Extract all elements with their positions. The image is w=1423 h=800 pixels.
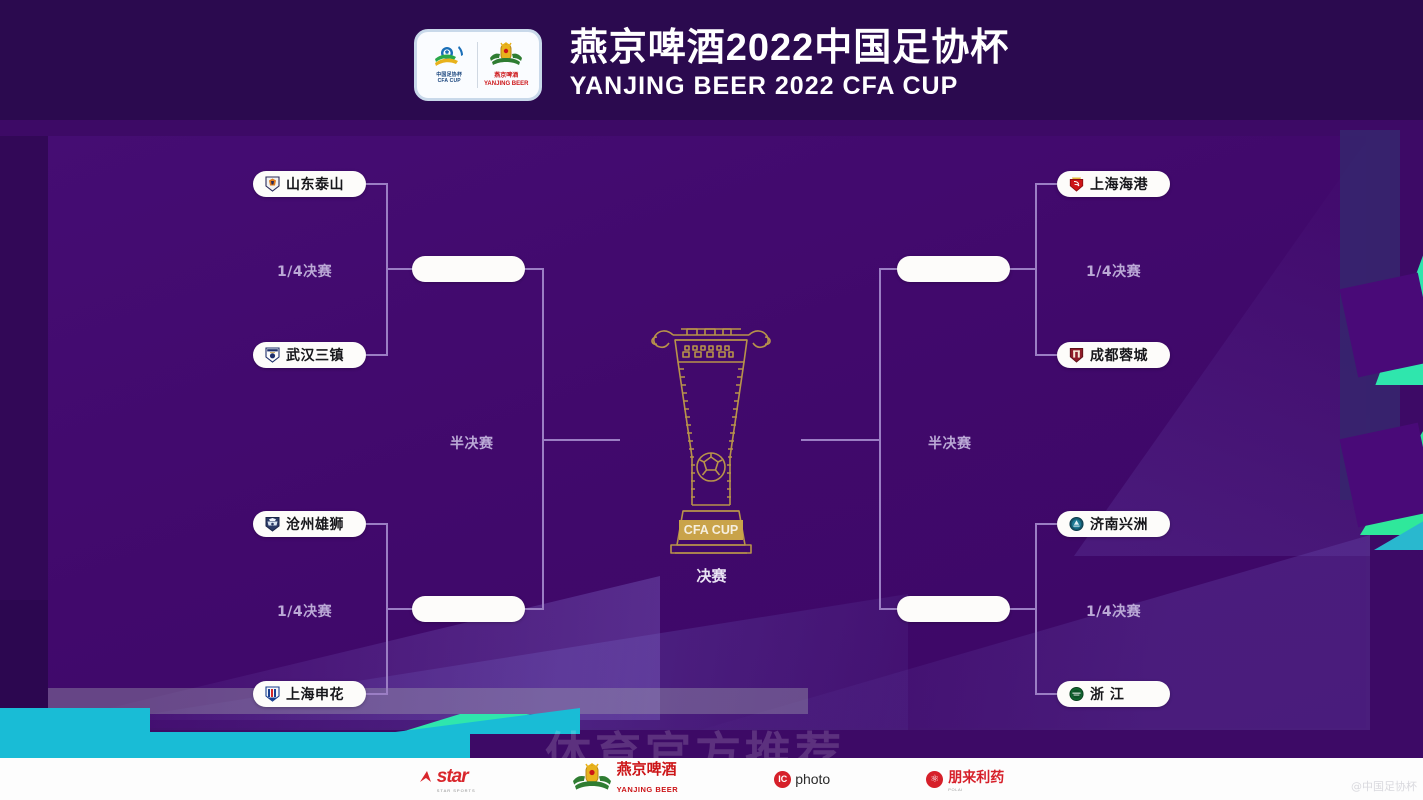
team-shandong-taishan[interactable]: 山东泰山 <box>253 171 366 197</box>
jinan-xingzhou-crest-icon <box>1069 516 1084 532</box>
team-wuhan-three-towns[interactable]: 武汉三镇 <box>253 342 366 368</box>
connector-right-q1-v <box>1035 183 1037 355</box>
label-left-semifinal: 半决赛 <box>450 433 494 453</box>
sponsor-star-sub: STAR SPORTS <box>437 788 476 793</box>
connector-right-q1-bot-h <box>1035 354 1057 356</box>
team-name: 山东泰山 <box>286 174 344 194</box>
label-right-semifinal: 半决赛 <box>928 433 972 453</box>
slot-left-semifinal-top[interactable] <box>412 256 525 282</box>
label-right-quarter-bottom: 1/4决赛 <box>1086 601 1141 621</box>
team-cangzhou-mighty-lions[interactable]: 沧州雄狮 <box>253 511 366 537</box>
team-name: 沧州雄狮 <box>286 514 344 534</box>
connector-left-q2-top-h <box>366 523 388 525</box>
wuhan-three-towns-crest-icon <box>265 347 280 363</box>
team-zhejiang[interactable]: 浙 江 <box>1057 681 1170 707</box>
connector-right-q2-bot-h <box>1035 693 1057 695</box>
sponsor-ic-photo[interactable]: IC photo <box>774 771 830 788</box>
label-final: 决赛 <box>0 565 1423 586</box>
team-name: 浙 江 <box>1090 684 1124 704</box>
team-shanghai-shenhua[interactable]: 上海申花 <box>253 681 366 707</box>
slot-left-semifinal-bottom[interactable] <box>412 596 525 622</box>
connector-left-q1-out <box>386 268 414 270</box>
connector-left-final <box>542 439 620 441</box>
polai-mark-icon: ⚛ <box>926 771 943 788</box>
connector-left-semi-top-h <box>524 268 544 270</box>
team-chengdu-rongcheng[interactable]: 成都蓉城 <box>1057 342 1170 368</box>
trophy-base-text: CFA CUP <box>684 523 738 537</box>
shanghai-port-crest-icon <box>1069 176 1084 192</box>
sponsor-yanjing-label-cn: 燕京啤酒 <box>617 761 677 778</box>
slot-right-semifinal-top[interactable] <box>897 256 1010 282</box>
sponsor-strip: star STAR SPORTS 燕京啤酒 YANJING BEER <box>0 758 1423 800</box>
bracket-poster: 中国足协杯 CFA CUP 燕京啤酒 <box>0 0 1423 800</box>
trophy-illustration: CFA CUP <box>635 315 787 560</box>
sponsor-yanjing-label-en: YANJING BEER <box>617 785 679 794</box>
star-arrow-icon <box>419 770 432 789</box>
label-left-quarter-top: 1/4决赛 <box>277 261 332 281</box>
connector-right-q2-top-h <box>1035 523 1057 525</box>
connector-right-q1-top-h <box>1035 183 1057 185</box>
connector-right-q2-v <box>1035 523 1037 694</box>
team-name: 上海申花 <box>286 684 344 704</box>
connector-right-semi-top-h <box>879 268 899 270</box>
ic-photo-badge-icon: IC <box>774 771 791 788</box>
connector-right-q1-out <box>1007 268 1035 270</box>
sponsor-polai-pharma[interactable]: ⚛ 朋来利药 POLAI <box>926 767 1004 792</box>
sponsor-polai-sub: POLAI <box>948 787 1004 792</box>
team-name: 上海海港 <box>1090 174 1148 194</box>
label-left-quarter-bottom: 1/4决赛 <box>277 601 332 621</box>
connector-right-semi-bot-h <box>879 608 899 610</box>
connector-left-q1-bot-h <box>366 354 388 356</box>
shanghai-shenhua-crest-icon <box>265 686 280 702</box>
bracket-diagram: 山东泰山 武汉三镇 沧州雄狮 <box>0 0 1423 800</box>
label-right-quarter-top: 1/4决赛 <box>1086 261 1141 281</box>
connector-right-final <box>801 439 881 441</box>
connector-right-q2-out <box>1007 608 1035 610</box>
zhejiang-crest-icon <box>1069 686 1084 702</box>
yanjing-wheat-crest-icon <box>572 762 612 797</box>
connector-left-semi-bot-h <box>524 608 544 610</box>
connector-left-q2-out <box>386 608 414 610</box>
cangzhou-mighty-lions-crest-icon <box>265 516 280 532</box>
sponsor-polai-label-cn: 朋来利药 <box>948 769 1004 785</box>
team-shanghai-port[interactable]: 上海海港 <box>1057 171 1170 197</box>
chengdu-rongcheng-crest-icon <box>1069 347 1084 363</box>
corner-watermark: @中国足协杯 <box>1351 778 1417 794</box>
team-name: 武汉三镇 <box>286 345 344 365</box>
sponsor-star[interactable]: star STAR SPORTS <box>419 766 476 793</box>
team-name: 济南兴洲 <box>1090 514 1148 534</box>
slot-right-semifinal-bottom[interactable] <box>897 596 1010 622</box>
connector-left-q1-top-h <box>366 183 388 185</box>
connector-left-q2-bot-h <box>366 693 388 695</box>
sponsor-yanjing-beer[interactable]: 燕京啤酒 YANJING BEER <box>572 761 679 797</box>
team-jinan-xingzhou[interactable]: 济南兴洲 <box>1057 511 1170 537</box>
team-name: 成都蓉城 <box>1090 345 1148 365</box>
sponsor-star-label: star <box>437 766 468 787</box>
shandong-taishan-crest-icon <box>265 176 280 192</box>
sponsor-ic-photo-label: photo <box>795 771 830 787</box>
